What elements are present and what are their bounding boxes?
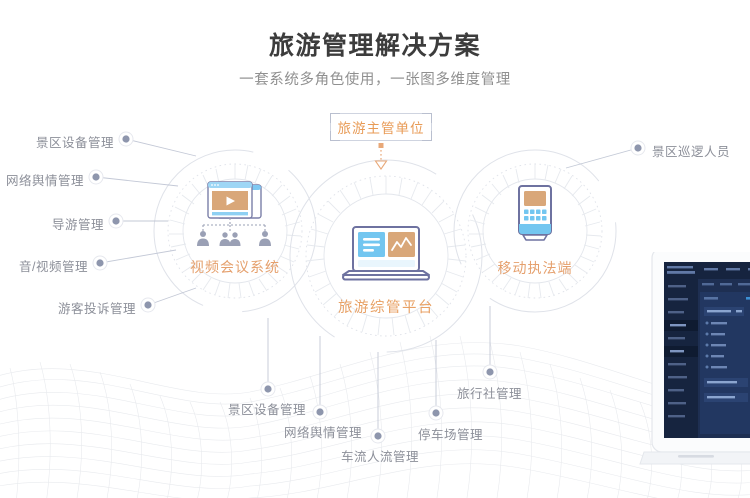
authority-label: 旅游主管单位: [330, 113, 432, 141]
handheld-device-icon: [505, 183, 565, 249]
video-window-icon: [187, 180, 283, 248]
dotted-arrow-down-icon: [370, 143, 392, 171]
left-item-1[interactable]: 网络舆情管理: [0, 170, 84, 189]
bottom-item-3[interactable]: 停车场管理: [418, 424, 483, 443]
node-tourism-platform[interactable]: 旅游综管平台: [326, 225, 446, 317]
page-title: 旅游管理解决方案: [0, 26, 750, 62]
laptop-dashboard-icon: [337, 225, 435, 287]
left-item-0[interactable]: 景区设备管理: [0, 132, 114, 151]
node-mobile-enforcement[interactable]: 移动执法端: [475, 183, 595, 278]
node-label-tourism-platform: 旅游综管平台: [326, 296, 446, 317]
left-item-2[interactable]: 导游管理: [0, 214, 104, 233]
bottom-item-2[interactable]: 车流人流管理: [341, 446, 419, 465]
node-label-video-conference: 视频会议系统: [175, 257, 295, 277]
left-item-4[interactable]: 游客投诉管理: [0, 298, 136, 317]
bottom-item-4[interactable]: 旅行社管理: [457, 383, 522, 402]
laptop-dashboard-mockup: [634, 252, 750, 484]
node-video-conference[interactable]: 视频会议系统: [175, 180, 295, 277]
authority-box[interactable]: 旅游主管单位: [330, 113, 432, 141]
right-item-0[interactable]: 景区巡逻人员: [652, 141, 730, 160]
infographic-canvas: 旅游管理解决方案 一套系统多角色使用，一张图多维度管理: [0, 0, 750, 498]
left-item-3[interactable]: 音/视频管理: [0, 256, 88, 275]
node-label-mobile-enforcement: 移动执法端: [475, 258, 595, 278]
bottom-item-1[interactable]: 网络舆情管理: [284, 422, 362, 441]
page-subtitle: 一套系统多角色使用，一张图多维度管理: [0, 68, 750, 89]
bottom-item-0[interactable]: 景区设备管理: [228, 399, 306, 418]
